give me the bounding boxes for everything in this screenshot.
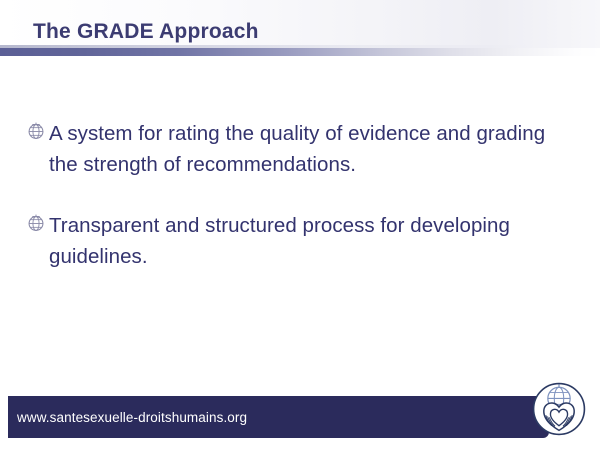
footer-website-url[interactable]: www.santesexuelle-droitshumains.org — [17, 410, 247, 425]
bullet-list: A system for rating the quality of evide… — [26, 118, 574, 272]
slide-canvas: The GRADE Approach A system for rating t… — [0, 0, 600, 450]
list-item-label: Transparent and structured process for d… — [48, 210, 574, 272]
list-item: A system for rating the quality of evide… — [26, 118, 574, 180]
list-item: Transparent and structured process for d… — [26, 210, 574, 272]
page-title: The GRADE Approach — [33, 20, 259, 44]
list-item-label: A system for rating the quality of evide… — [48, 118, 574, 180]
title-divider — [0, 48, 600, 56]
hands-heart-globe-logo — [528, 378, 590, 440]
globe-bullet-icon — [26, 121, 48, 147]
globe-bullet-icon — [26, 213, 48, 239]
